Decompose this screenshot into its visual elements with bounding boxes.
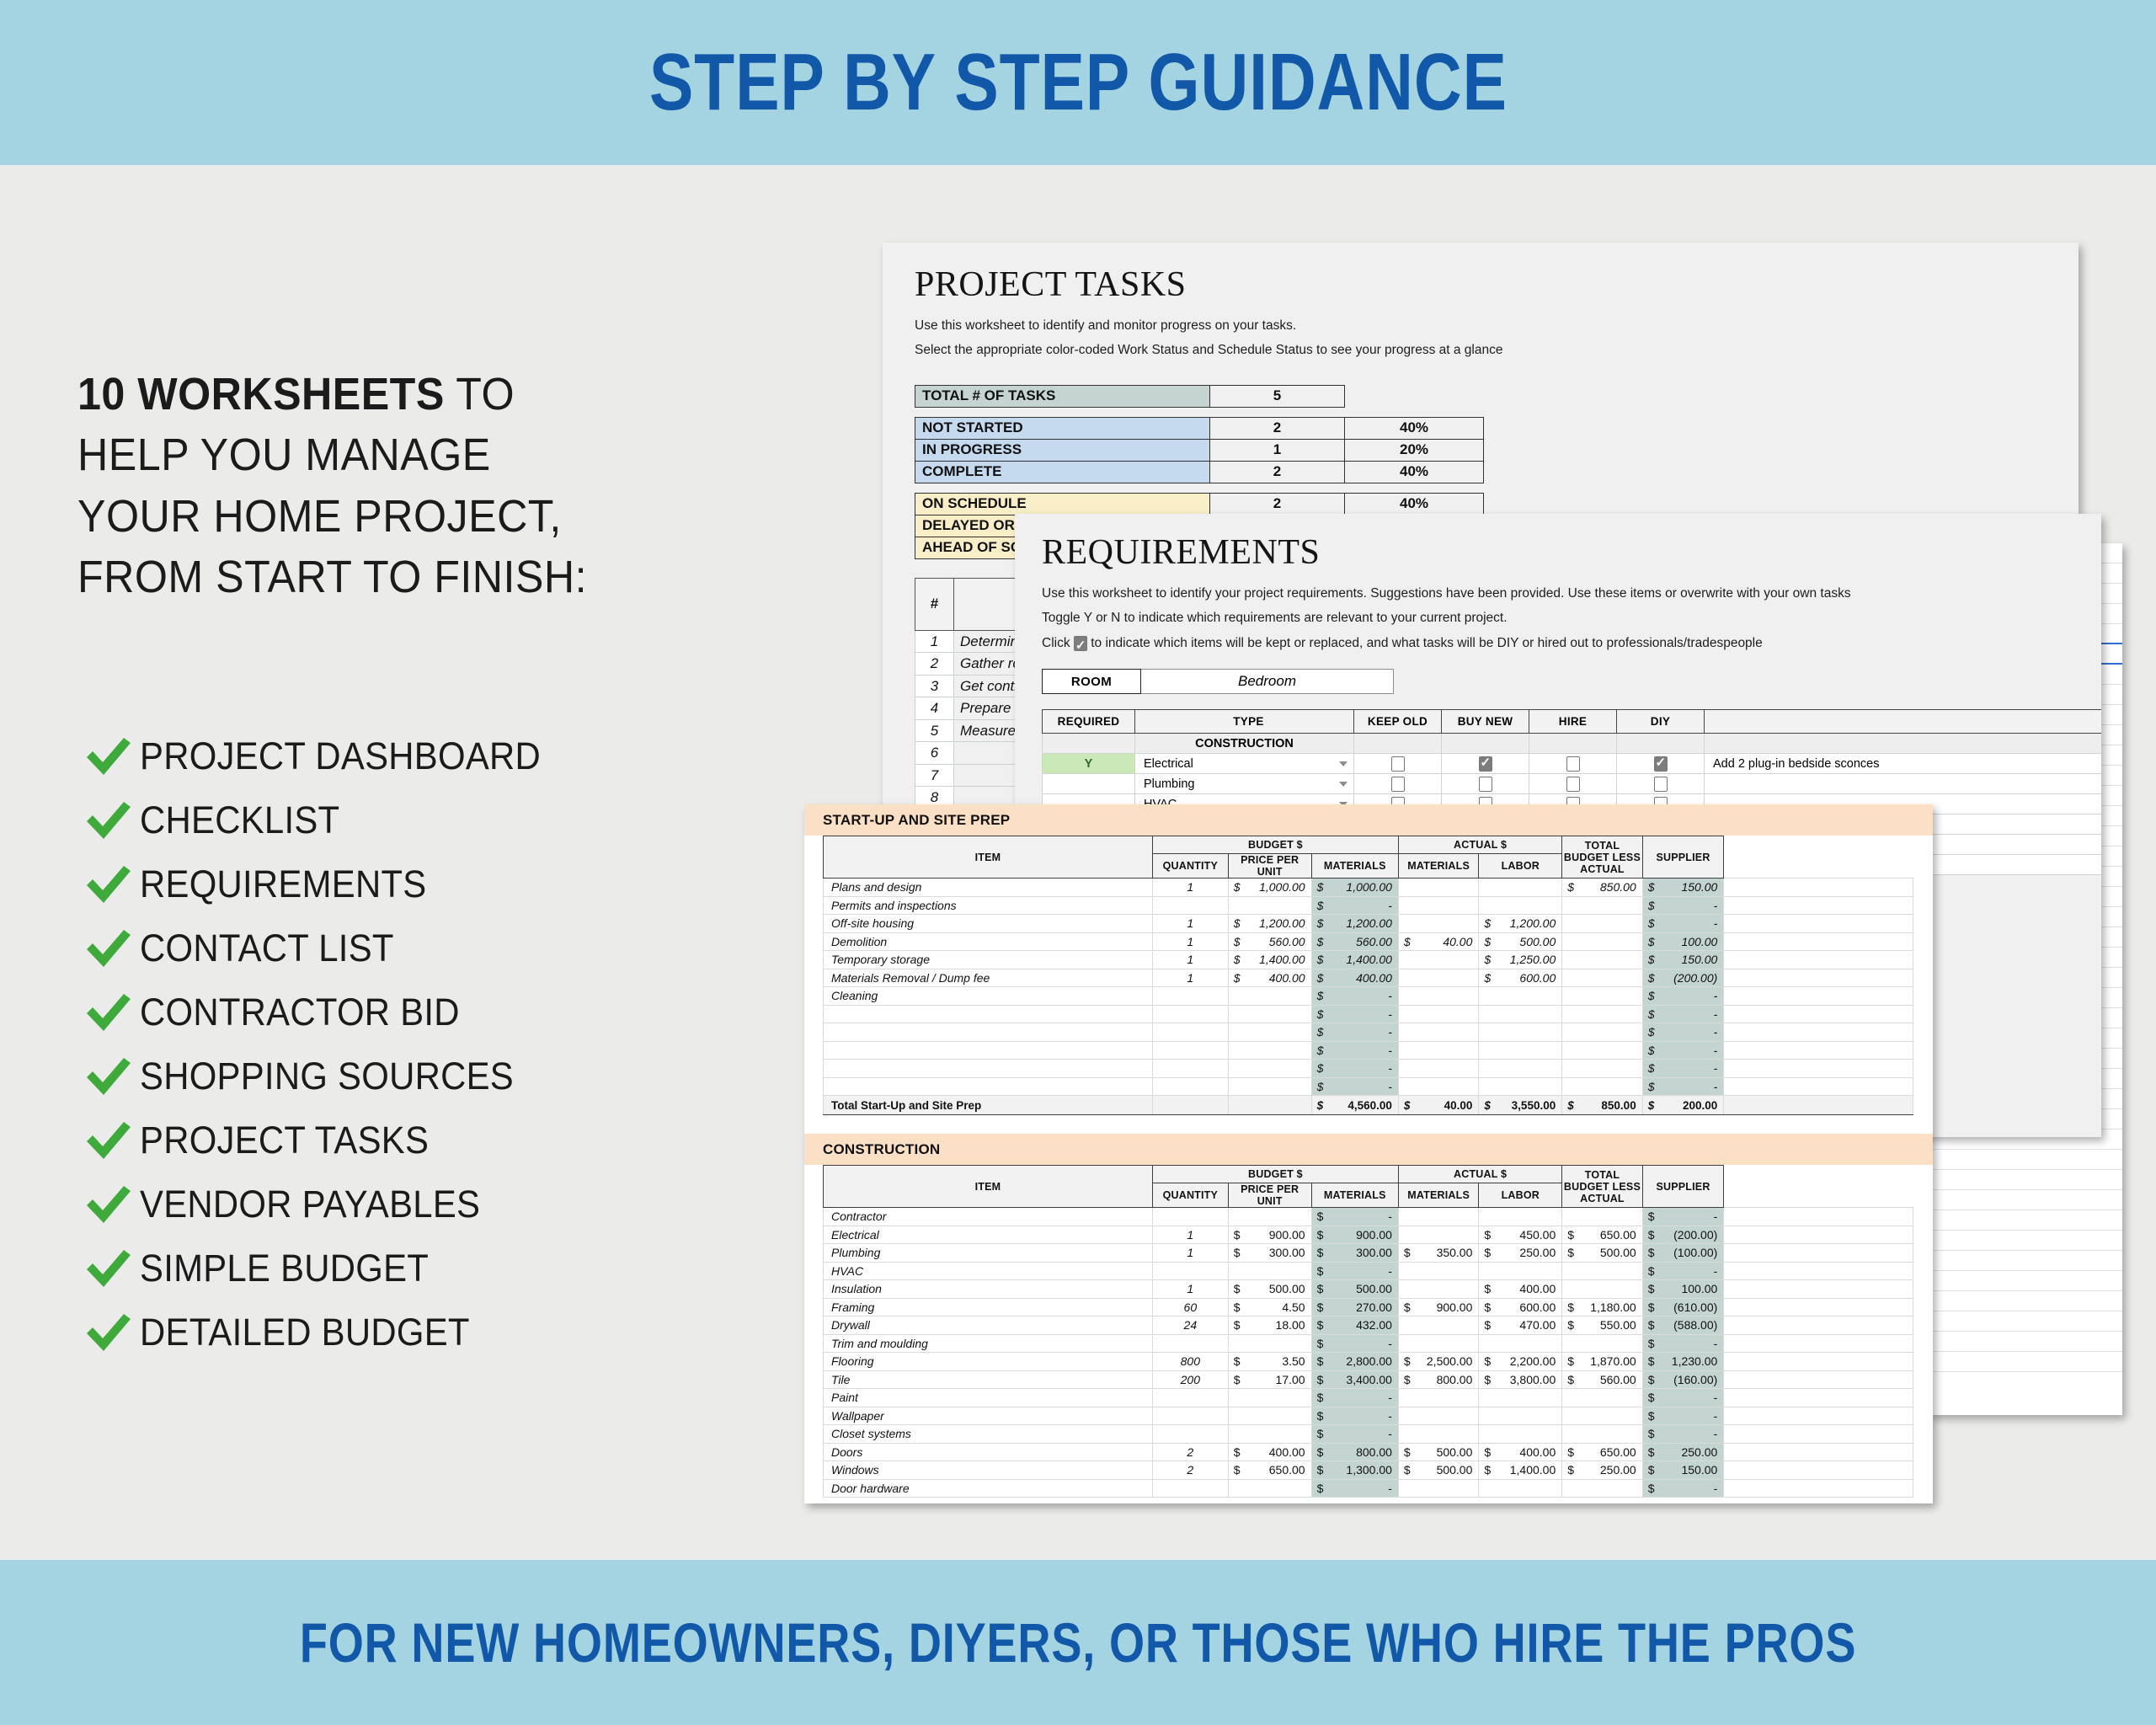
budget-row[interactable]: Closet systems $- $-	[824, 1425, 1913, 1444]
requirement-required[interactable]: Y	[1043, 754, 1135, 774]
actual-labor[interactable]	[1562, 1041, 1642, 1060]
actual-materials[interactable]: $250.00	[1479, 1244, 1562, 1263]
budget-labor[interactable]	[1398, 1407, 1478, 1425]
budget-supplier[interactable]	[1724, 969, 1913, 987]
budget-quantity[interactable]	[1152, 1041, 1228, 1060]
budget-row[interactable]: Framing 60 $4.50 $270.00 $900.00 $600.00…	[824, 1298, 1913, 1316]
budget-quantity[interactable]: 1	[1152, 915, 1228, 933]
budget-row[interactable]: HVAC $- $-	[824, 1262, 1913, 1280]
budget-materials[interactable]: $-	[1311, 896, 1398, 915]
actual-materials[interactable]	[1479, 1077, 1562, 1096]
budget-supplier[interactable]	[1724, 1479, 1913, 1498]
budget-supplier[interactable]	[1724, 951, 1913, 969]
worksheet-item-label: CONTACT LIST	[140, 927, 394, 970]
actual-labor[interactable]	[1562, 1077, 1642, 1096]
budget-price-per-unit[interactable]	[1228, 1389, 1311, 1407]
chevron-down-icon[interactable]	[1339, 761, 1347, 766]
budget-materials[interactable]: $1,400.00	[1311, 951, 1398, 969]
actual-materials[interactable]	[1479, 1425, 1562, 1444]
budget-labor[interactable]	[1398, 879, 1478, 897]
budget-item[interactable]: Cleaning	[824, 987, 1153, 1006]
budget-supplier[interactable]	[1724, 1280, 1913, 1299]
budget-item[interactable]: Flooring	[824, 1353, 1153, 1371]
budget-row[interactable]: $- $-	[824, 1077, 1913, 1096]
budget-supplier[interactable]	[1724, 1370, 1913, 1389]
budget-labor[interactable]: $900.00	[1398, 1298, 1478, 1316]
actual-materials[interactable]: $400.00	[1479, 1280, 1562, 1299]
budget-supplier[interactable]	[1724, 1041, 1913, 1060]
budget-supplier[interactable]	[1724, 1262, 1913, 1280]
budget-price-per-unit[interactable]	[1228, 1425, 1311, 1444]
requirement-checkbox-cell[interactable]	[1617, 754, 1705, 774]
actual-materials[interactable]	[1479, 1060, 1562, 1078]
actual-labor[interactable]	[1562, 1407, 1642, 1425]
budget-labor[interactable]	[1398, 915, 1478, 933]
budget-quantity[interactable]	[1152, 1425, 1228, 1444]
budget-item[interactable]: Tile	[824, 1370, 1153, 1389]
budget-materials[interactable]: $-	[1311, 1005, 1398, 1023]
budget-labor[interactable]: $2,500.00	[1398, 1353, 1478, 1371]
worksheet-item-project-tasks: PROJECT TASKS	[77, 1108, 768, 1172]
budget-materials[interactable]: $-	[1311, 1407, 1398, 1425]
budget-row[interactable]: $- $-	[824, 1041, 1913, 1060]
budget-item[interactable]: Electrical	[824, 1226, 1153, 1244]
task-number: 4	[915, 697, 954, 720]
budget-supplier[interactable]	[1724, 1461, 1913, 1480]
actual-materials[interactable]: $600.00	[1479, 969, 1562, 987]
budget-quantity[interactable]: 800	[1152, 1353, 1228, 1371]
budget-row[interactable]: Doors 2 $400.00 $800.00 $500.00 $400.00 …	[824, 1443, 1913, 1461]
actual-labor[interactable]	[1562, 1389, 1642, 1407]
actual-labor[interactable]	[1562, 987, 1642, 1006]
status-count: 2	[1210, 461, 1345, 483]
actual-materials[interactable]: $1,200.00	[1479, 915, 1562, 933]
budget-quantity[interactable]	[1152, 1208, 1228, 1226]
checkbox-icon[interactable]	[1479, 756, 1492, 772]
budget-price-per-unit[interactable]	[1228, 1005, 1311, 1023]
budget-row[interactable]: Cleaning $- $-	[824, 987, 1913, 1006]
budget-quantity[interactable]	[1152, 1479, 1228, 1498]
budget-item[interactable]: Demolition	[824, 932, 1153, 951]
budget-materials[interactable]: $-	[1311, 1334, 1398, 1353]
actual-materials[interactable]: $1,400.00	[1479, 1461, 1562, 1480]
total-budget-less-actual: $150.00	[1642, 879, 1724, 897]
budget-row[interactable]: $- $-	[824, 1005, 1913, 1023]
budget-materials[interactable]: $1,300.00	[1311, 1461, 1398, 1480]
budget-quantity[interactable]	[1152, 1407, 1228, 1425]
budget-labor[interactable]: $350.00	[1398, 1244, 1478, 1263]
budget-price-per-unit[interactable]: $300.00	[1228, 1244, 1311, 1263]
budget-item[interactable]: Drywall	[824, 1316, 1153, 1335]
actual-labor[interactable]: $560.00	[1562, 1370, 1642, 1389]
budget-materials[interactable]: $-	[1311, 1041, 1398, 1060]
budget-supplier[interactable]	[1724, 932, 1913, 951]
requirement-details[interactable]: Add 2 plug-in bedside sconces	[1705, 754, 2102, 774]
budget-row[interactable]: Tile 200 $17.00 $3,400.00 $800.00 $3,800…	[824, 1370, 1913, 1389]
actual-labor[interactable]	[1562, 1060, 1642, 1078]
budget-supplier[interactable]	[1724, 879, 1913, 897]
budget-quantity[interactable]: 1	[1152, 1244, 1228, 1263]
budget-materials[interactable]: $2,800.00	[1311, 1353, 1398, 1371]
budget-price-per-unit[interactable]	[1228, 1077, 1311, 1096]
actual-labor[interactable]	[1562, 1005, 1642, 1023]
budget-item[interactable]: Doors	[824, 1443, 1153, 1461]
budget-supplier[interactable]	[1724, 1208, 1913, 1226]
budget-price-per-unit[interactable]	[1228, 1023, 1311, 1042]
budget-price-per-unit[interactable]	[1228, 1262, 1311, 1280]
budget-item[interactable]	[824, 1077, 1153, 1096]
budget-materials[interactable]: $-	[1311, 987, 1398, 1006]
budget-price-per-unit[interactable]: $1,400.00	[1228, 951, 1311, 969]
budget-item[interactable]: Trim and moulding	[824, 1334, 1153, 1353]
budget-quantity[interactable]: 2	[1152, 1443, 1228, 1461]
actual-labor[interactable]: $850.00	[1562, 879, 1642, 897]
actual-materials[interactable]: $2,200.00	[1479, 1353, 1562, 1371]
budget-labor[interactable]	[1398, 1262, 1478, 1280]
budget-quantity[interactable]	[1152, 1389, 1228, 1407]
budget-row[interactable]: $- $-	[824, 1060, 1913, 1078]
budget-row[interactable]: Door hardware $- $-	[824, 1479, 1913, 1498]
budget-row[interactable]: Temporary storage 1 $1,400.00 $1,400.00 …	[824, 951, 1913, 969]
budget-labor[interactable]	[1398, 1280, 1478, 1299]
actual-labor[interactable]	[1562, 1208, 1642, 1226]
budget-labor[interactable]	[1398, 1208, 1478, 1226]
budget-row[interactable]: Plumbing 1 $300.00 $300.00 $350.00 $250.…	[824, 1244, 1913, 1263]
budget-materials[interactable]: $560.00	[1311, 932, 1398, 951]
budget-materials[interactable]: $1,200.00	[1311, 915, 1398, 933]
actual-materials[interactable]	[1479, 879, 1562, 897]
checkbox-icon[interactable]	[1391, 777, 1405, 792]
budget-price-per-unit[interactable]: $1,000.00	[1228, 879, 1311, 897]
budget-supplier[interactable]	[1724, 1334, 1913, 1353]
budget-quantity[interactable]	[1152, 1023, 1228, 1042]
budget-supplier[interactable]	[1724, 1060, 1913, 1078]
budget-quantity[interactable]: 60	[1152, 1298, 1228, 1316]
budget-price-per-unit[interactable]	[1228, 896, 1311, 915]
worksheet-item-requirements: REQUIREMENTS	[77, 852, 768, 916]
budget-materials[interactable]: $-	[1311, 1077, 1398, 1096]
check-icon	[77, 1055, 140, 1098]
budget-supplier[interactable]	[1724, 1023, 1913, 1042]
budget-supplier[interactable]	[1724, 1425, 1913, 1444]
status-label: IN PROGRESS	[915, 439, 1210, 461]
actual-labor[interactable]: $650.00	[1562, 1443, 1642, 1461]
actual-labor[interactable]: $1,180.00	[1562, 1298, 1642, 1316]
budget-price-per-unit[interactable]	[1228, 987, 1311, 1006]
actual-materials[interactable]	[1479, 1041, 1562, 1060]
budget-item[interactable]: Plumbing	[824, 1244, 1153, 1263]
checkbox-icon[interactable]	[1654, 756, 1668, 772]
budget-supplier[interactable]	[1724, 1298, 1913, 1316]
budget-quantity[interactable]	[1152, 987, 1228, 1006]
budget-labor[interactable]	[1398, 1389, 1478, 1407]
budget-labor[interactable]	[1398, 969, 1478, 987]
budget-quantity[interactable]: 1	[1152, 969, 1228, 987]
actual-materials[interactable]	[1479, 987, 1562, 1006]
budget-item[interactable]: Temporary storage	[824, 951, 1153, 969]
budget-price-per-unit[interactable]	[1228, 1407, 1311, 1425]
budget-quantity[interactable]	[1152, 1005, 1228, 1023]
budget-materials[interactable]: $500.00	[1311, 1280, 1398, 1299]
actual-labor[interactable]	[1562, 1479, 1642, 1498]
budget-supplier[interactable]	[1724, 1353, 1913, 1371]
budget-labor[interactable]: $40.00	[1398, 932, 1478, 951]
actual-labor[interactable]: $650.00	[1562, 1226, 1642, 1244]
budget-supplier[interactable]	[1724, 915, 1913, 933]
budget-materials[interactable]: $3,400.00	[1311, 1370, 1398, 1389]
total-budget-less-actual: $-	[1642, 1208, 1724, 1226]
budget-materials[interactable]: $400.00	[1311, 969, 1398, 987]
budget-price-per-unit[interactable]	[1228, 1208, 1311, 1226]
room-value[interactable]: Bedroom	[1141, 669, 1394, 694]
budget-row[interactable]: Paint $- $-	[824, 1389, 1913, 1407]
budget-materials[interactable]: $300.00	[1311, 1244, 1398, 1263]
requirement-details[interactable]	[1705, 774, 2102, 794]
budget-materials[interactable]: $-	[1311, 1208, 1398, 1226]
requirement-checkbox-cell[interactable]	[1354, 774, 1442, 794]
budget-labor[interactable]: $500.00	[1398, 1443, 1478, 1461]
actual-materials[interactable]	[1479, 1407, 1562, 1425]
budget-price-per-unit[interactable]: $4.50	[1228, 1298, 1311, 1316]
requirement-row[interactable]: Plumbing	[1043, 774, 2102, 794]
checkbox-icon[interactable]	[1566, 777, 1580, 792]
budget-quantity[interactable]: 1	[1152, 1226, 1228, 1244]
budget-quantity[interactable]: 2	[1152, 1461, 1228, 1480]
status-count: 5	[1210, 385, 1345, 407]
budget-materials[interactable]: $800.00	[1311, 1443, 1398, 1461]
requirement-row[interactable]: Y ElectricalAdd 2 plug-in bedside sconce…	[1043, 754, 2102, 774]
requirement-type[interactable]: Plumbing	[1135, 774, 1354, 794]
budget-labor[interactable]	[1398, 1425, 1478, 1444]
budget-supplier[interactable]	[1724, 1316, 1913, 1335]
budget-item[interactable]: HVAC	[824, 1262, 1153, 1280]
budget-row[interactable]: Plans and design 1 $1,000.00 $1,000.00 $…	[824, 879, 1913, 897]
actual-materials[interactable]	[1479, 1334, 1562, 1353]
budget-materials[interactable]: $1,000.00	[1311, 879, 1398, 897]
actual-materials[interactable]	[1479, 1389, 1562, 1407]
budget-price-per-unit[interactable]: $18.00	[1228, 1316, 1311, 1335]
budget-supplier[interactable]	[1724, 1244, 1913, 1263]
budget-row[interactable]: Wallpaper $- $-	[824, 1407, 1913, 1425]
construction-budget-table[interactable]: ITEM BUDGET $ ACTUAL $ TOTAL BUDGET LESS…	[823, 1165, 1913, 1498]
budget-row[interactable]: Demolition 1 $560.00 $560.00 $40.00 $500…	[824, 932, 1913, 951]
budget-item[interactable]: Door hardware	[824, 1479, 1153, 1498]
actual-labor[interactable]	[1562, 1425, 1642, 1444]
budget-price-per-unit[interactable]	[1228, 1479, 1311, 1498]
budget-labor[interactable]	[1398, 951, 1478, 969]
budget-quantity[interactable]: 1	[1152, 932, 1228, 951]
budget-item[interactable]: Wallpaper	[824, 1407, 1153, 1425]
budget-quantity[interactable]	[1152, 1334, 1228, 1353]
actual-materials[interactable]: $470.00	[1479, 1316, 1562, 1335]
budget-row[interactable]: Electrical 1 $900.00 $900.00 $450.00 $65…	[824, 1226, 1913, 1244]
budget-supplier[interactable]	[1724, 987, 1913, 1006]
budget-row[interactable]: Contractor $- $-	[824, 1208, 1913, 1226]
budget-row[interactable]: $- $-	[824, 1023, 1913, 1042]
budget-row[interactable]: Drywall 24 $18.00 $432.00 $470.00 $550.0…	[824, 1316, 1913, 1335]
budget-item[interactable]	[824, 1023, 1153, 1042]
budget-materials[interactable]: $432.00	[1311, 1316, 1398, 1335]
budget-row[interactable]: Trim and moulding $- $-	[824, 1334, 1913, 1353]
budget-price-per-unit[interactable]: $1,200.00	[1228, 915, 1311, 933]
budget-supplier[interactable]	[1724, 1407, 1913, 1425]
actual-labor[interactable]: $550.00	[1562, 1316, 1642, 1335]
req-col-diy: DIY	[1617, 710, 1705, 734]
budget-item[interactable]: Permits and inspections	[824, 896, 1153, 915]
budget-price-per-unit[interactable]: $900.00	[1228, 1226, 1311, 1244]
budget-quantity[interactable]	[1152, 1060, 1228, 1078]
budget-quantity[interactable]: 24	[1152, 1316, 1228, 1335]
budget-materials[interactable]: $-	[1311, 1023, 1398, 1042]
actual-materials[interactable]	[1479, 1208, 1562, 1226]
budget-labor[interactable]	[1398, 1479, 1478, 1498]
budget-labor[interactable]	[1398, 1316, 1478, 1335]
actual-labor[interactable]: $500.00	[1562, 1244, 1642, 1263]
budget-labor[interactable]	[1398, 1334, 1478, 1353]
budget-quantity[interactable]: 1	[1152, 1280, 1228, 1299]
budget-price-per-unit[interactable]: $17.00	[1228, 1370, 1311, 1389]
budget-price-per-unit[interactable]: $500.00	[1228, 1280, 1311, 1299]
budget-labor[interactable]	[1398, 896, 1478, 915]
requirement-checkbox-cell[interactable]	[1617, 774, 1705, 794]
requirement-required[interactable]	[1043, 774, 1135, 794]
chevron-down-icon[interactable]	[1339, 782, 1347, 787]
budget-row[interactable]: Insulation 1 $500.00 $500.00 $400.00 $10…	[824, 1280, 1913, 1299]
budget-materials[interactable]: $-	[1311, 1479, 1398, 1498]
budget-labor[interactable]: $500.00	[1398, 1461, 1478, 1480]
actual-materials[interactable]: $1,250.00	[1479, 951, 1562, 969]
actual-labor[interactable]	[1562, 896, 1642, 915]
budget-quantity[interactable]: 1	[1152, 879, 1228, 897]
actual-labor[interactable]	[1562, 951, 1642, 969]
budget-price-per-unit[interactable]: $3.50	[1228, 1353, 1311, 1371]
room-field[interactable]: ROOM Bedroom	[1042, 669, 2101, 694]
budget-price-per-unit[interactable]	[1228, 1060, 1311, 1078]
actual-labor[interactable]	[1562, 1262, 1642, 1280]
actual-materials[interactable]	[1479, 1479, 1562, 1498]
budget-quantity[interactable]	[1152, 1262, 1228, 1280]
budget-labor[interactable]	[1398, 987, 1478, 1006]
budget-row[interactable]: Materials Removal / Dump fee 1 $400.00 $…	[824, 969, 1913, 987]
budget-item[interactable]: Off-site housing	[824, 915, 1153, 933]
total-budget-less-actual: $150.00	[1642, 951, 1724, 969]
budget-labor[interactable]	[1398, 1226, 1478, 1244]
requirement-checkbox-cell[interactable]	[1354, 754, 1442, 774]
budget-quantity[interactable]	[1152, 1077, 1228, 1096]
actual-materials[interactable]	[1479, 1005, 1562, 1023]
budget-item[interactable]: Framing	[824, 1298, 1153, 1316]
budget-materials[interactable]: $-	[1311, 1060, 1398, 1078]
budget-supplier[interactable]	[1724, 1077, 1913, 1096]
budget-price-per-unit[interactable]: $650.00	[1228, 1461, 1311, 1480]
budget-quantity[interactable]: 200	[1152, 1370, 1228, 1389]
actual-materials[interactable]: $400.00	[1479, 1443, 1562, 1461]
check-icon	[77, 1183, 140, 1226]
budget-supplier[interactable]	[1724, 1005, 1913, 1023]
worksheet-detailed-budget[interactable]: START-UP AND SITE PREP ITEM BUDGET $ ACT…	[804, 804, 1933, 1503]
budget-row[interactable]: Permits and inspections $- $-	[824, 896, 1913, 915]
budget-labor[interactable]: $800.00	[1398, 1370, 1478, 1389]
requirement-checkbox-cell[interactable]	[1529, 774, 1617, 794]
actual-materials[interactable]: $600.00	[1479, 1298, 1562, 1316]
budget-row[interactable]: Windows 2 $650.00 $1,300.00 $500.00 $1,4…	[824, 1461, 1913, 1480]
headline-line2: HELP YOU MANAGE	[77, 425, 735, 485]
startup-budget-table[interactable]: ITEM BUDGET $ ACTUAL $ TOTAL BUDGET LESS…	[823, 836, 1913, 1115]
requirement-type[interactable]: Electrical	[1135, 754, 1354, 774]
budget-materials[interactable]: $-	[1311, 1262, 1398, 1280]
budget-quantity[interactable]: 1	[1152, 951, 1228, 969]
budget-materials[interactable]: $270.00	[1311, 1298, 1398, 1316]
budget-item[interactable]: Plans and design	[824, 879, 1153, 897]
actual-materials[interactable]	[1479, 896, 1562, 915]
budget-price-per-unit[interactable]	[1228, 1041, 1311, 1060]
budget-item[interactable]: Closet systems	[824, 1425, 1153, 1444]
budget-supplier[interactable]	[1724, 1226, 1913, 1244]
actual-materials[interactable]: $500.00	[1479, 932, 1562, 951]
budget-materials[interactable]: $-	[1311, 1425, 1398, 1444]
budget-item[interactable]: Paint	[824, 1389, 1153, 1407]
budget-item[interactable]: Contractor	[824, 1208, 1153, 1226]
budget-materials[interactable]: $-	[1311, 1389, 1398, 1407]
checkbox-icon[interactable]	[1391, 756, 1405, 772]
budget-price-per-unit[interactable]: $560.00	[1228, 932, 1311, 951]
checkbox-icon[interactable]	[1479, 777, 1492, 792]
actual-labor[interactable]: $250.00	[1562, 1461, 1642, 1480]
requirement-checkbox-cell[interactable]	[1529, 754, 1617, 774]
budget-labor[interactable]	[1398, 1041, 1478, 1060]
actual-labor[interactable]	[1562, 969, 1642, 987]
budget-price-per-unit[interactable]: $400.00	[1228, 969, 1311, 987]
worksheet-item-label: SHOPPING SOURCES	[140, 1055, 514, 1098]
budget-item[interactable]: Windows	[824, 1461, 1153, 1480]
budget-quantity[interactable]	[1152, 896, 1228, 915]
budget-item[interactable]	[824, 1060, 1153, 1078]
budget-supplier[interactable]	[1724, 1389, 1913, 1407]
budget-labor[interactable]	[1398, 1023, 1478, 1042]
budget-row[interactable]: Off-site housing 1 $1,200.00 $1,200.00 $…	[824, 915, 1913, 933]
actual-labor[interactable]	[1562, 932, 1642, 951]
actual-materials[interactable]	[1479, 1023, 1562, 1042]
requirement-checkbox-cell[interactable]	[1442, 754, 1529, 774]
checkbox-icon[interactable]	[1654, 777, 1668, 792]
budget-supplier[interactable]	[1724, 1443, 1913, 1461]
budget-price-per-unit[interactable]	[1228, 1334, 1311, 1353]
actual-labor[interactable]	[1562, 1334, 1642, 1353]
budget-item[interactable]	[824, 1041, 1153, 1060]
actual-materials[interactable]: $450.00	[1479, 1226, 1562, 1244]
actual-labor[interactable]	[1562, 1023, 1642, 1042]
budget-row[interactable]: Flooring 800 $3.50 $2,800.00 $2,500.00 $…	[824, 1353, 1913, 1371]
actual-materials[interactable]	[1479, 1262, 1562, 1280]
bg-row	[1929, 1291, 2122, 1311]
budget-labor[interactable]	[1398, 1077, 1478, 1096]
actual-materials[interactable]: $3,800.00	[1479, 1370, 1562, 1389]
actual-labor[interactable]	[1562, 1280, 1642, 1299]
budget-materials[interactable]: $900.00	[1311, 1226, 1398, 1244]
checkbox-icon[interactable]	[1566, 756, 1580, 772]
budget-labor[interactable]	[1398, 1060, 1478, 1078]
budget-price-per-unit[interactable]: $400.00	[1228, 1443, 1311, 1461]
requirement-checkbox-cell[interactable]	[1442, 774, 1529, 794]
budget-item[interactable]: Materials Removal / Dump fee	[824, 969, 1153, 987]
actual-labor[interactable]: $1,870.00	[1562, 1353, 1642, 1371]
budget-labor[interactable]	[1398, 1005, 1478, 1023]
actual-labor[interactable]	[1562, 915, 1642, 933]
col-actual-labor: LABOR	[1479, 1183, 1562, 1208]
budget-item[interactable]	[824, 1005, 1153, 1023]
budget-supplier[interactable]	[1724, 896, 1913, 915]
budget-item[interactable]: Insulation	[824, 1280, 1153, 1299]
